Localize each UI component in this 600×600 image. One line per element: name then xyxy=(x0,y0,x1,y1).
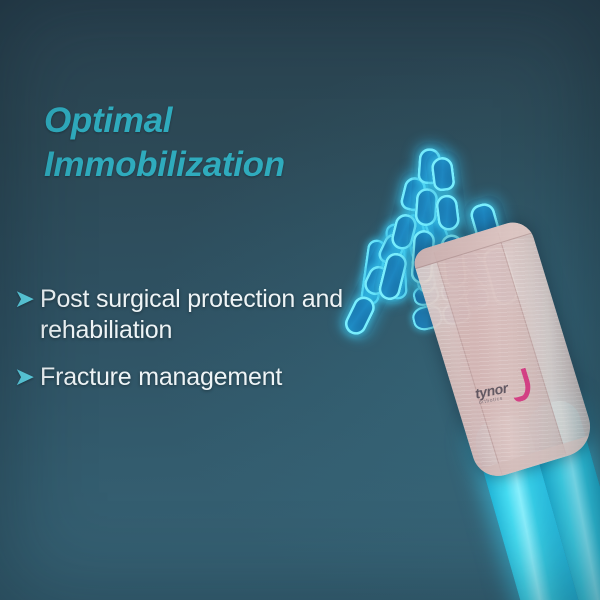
arrow-bullet-icon: ➤ xyxy=(14,284,40,315)
promotional-slide: tynor orthotics Optimal Immobilization ➤… xyxy=(0,0,600,600)
list-item-label: Fracture management xyxy=(40,362,414,393)
list-item: ➤ Post surgical protection and rehabilia… xyxy=(14,284,414,346)
list-item-label: Post surgical protection and rehabiliati… xyxy=(40,284,414,346)
brand-logo-swoosh-icon xyxy=(506,368,534,403)
list-item: ➤ Fracture management xyxy=(14,362,414,393)
wrist-brace: tynor orthotics xyxy=(411,217,598,482)
page-title: Optimal Immobilization xyxy=(44,99,374,187)
arrow-bullet-icon: ➤ xyxy=(14,362,40,393)
feature-bullet-list: ➤ Post surgical protection and rehabilia… xyxy=(14,284,414,409)
